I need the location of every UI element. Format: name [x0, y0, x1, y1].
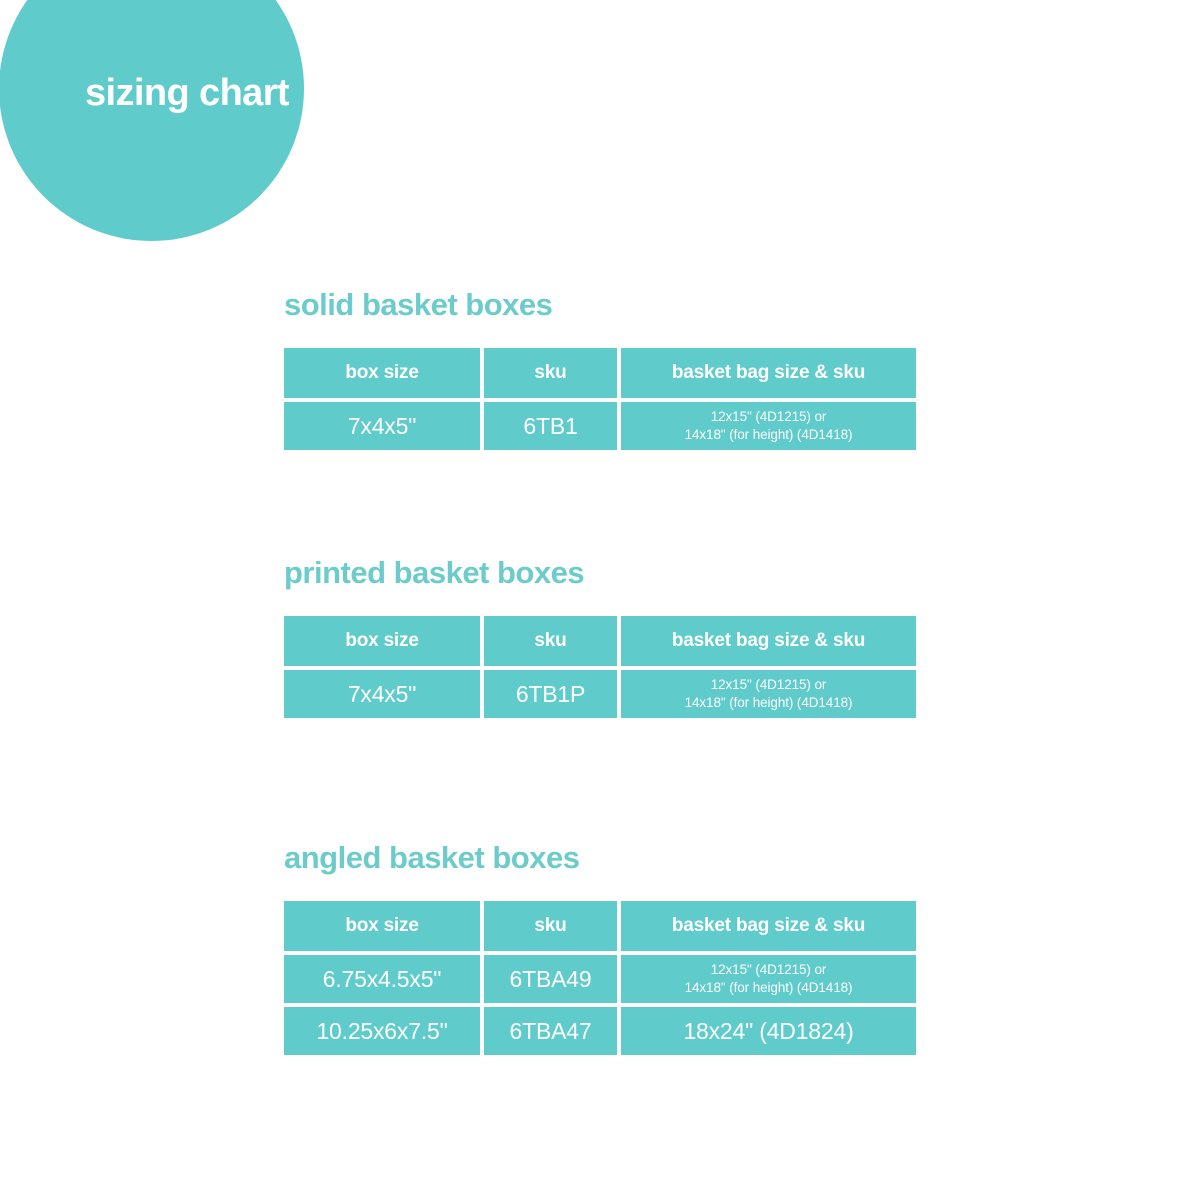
cell-text: basket bag size & sku	[621, 901, 916, 951]
table-row: 7x4x5" 6TB1P 12x15" (4D1215) or 14x18" (…	[284, 670, 916, 718]
badge-label: sizing chart	[85, 72, 289, 115]
column-header-box-size: box size	[284, 348, 480, 398]
cell-box-size: 6.75x4.5x5"	[284, 955, 480, 1003]
cell-basket-bag: 18x24" (4D1824)	[621, 1007, 916, 1055]
cell-text: 7x4x5"	[284, 402, 480, 450]
cell-text: box size	[284, 616, 480, 666]
table-header-row: box size sku basket bag size & sku	[284, 901, 916, 951]
section-angled-basket-boxes: angled basket boxes box size sku basket …	[284, 840, 920, 1059]
cell-text: 6TBA49	[484, 955, 617, 1003]
cell-text-line2: 14x18" (for height) (4D1418)	[685, 694, 853, 712]
cell-sku: 6TBA47	[484, 1007, 617, 1055]
section-title: angled basket boxes	[284, 840, 920, 876]
cell-text: 6TB1	[484, 402, 617, 450]
cell-sku: 6TBA49	[484, 955, 617, 1003]
cell-basket-bag: 12x15" (4D1215) or 14x18" (for height) (…	[621, 402, 916, 450]
sizing-chart-page: sizing chart solid basket boxes box size…	[0, 0, 1200, 1200]
cell-multiline: 12x15" (4D1215) or 14x18" (for height) (…	[621, 670, 916, 718]
cell-text: 18x24" (4D1824)	[621, 1007, 916, 1055]
sizing-table: box size sku basket bag size & sku 7x4x5…	[280, 612, 920, 722]
column-header-box-size: box size	[284, 616, 480, 666]
cell-text: sku	[484, 616, 617, 666]
column-header-basket-bag: basket bag size & sku	[621, 901, 916, 951]
cell-text-line1: 12x15" (4D1215) or	[685, 408, 853, 426]
cell-text: 10.25x6x7.5"	[284, 1007, 480, 1055]
column-header-sku: sku	[484, 616, 617, 666]
cell-text: basket bag size & sku	[621, 348, 916, 398]
cell-multiline: 12x15" (4D1215) or 14x18" (for height) (…	[621, 955, 916, 1003]
table-row: 10.25x6x7.5" 6TBA47 18x24" (4D1824)	[284, 1007, 916, 1055]
table-header-row: box size sku basket bag size & sku	[284, 616, 916, 666]
cell-text: sku	[484, 348, 617, 398]
cell-text: sku	[484, 901, 617, 951]
cell-text: 6TBA47	[484, 1007, 617, 1055]
column-header-sku: sku	[484, 901, 617, 951]
table-header-row: box size sku basket bag size & sku	[284, 348, 916, 398]
cell-box-size: 7x4x5"	[284, 670, 480, 718]
cell-box-size: 7x4x5"	[284, 402, 480, 450]
cell-text-line2: 14x18" (for height) (4D1418)	[685, 426, 853, 444]
cell-basket-bag: 12x15" (4D1215) or 14x18" (for height) (…	[621, 955, 916, 1003]
cell-text: basket bag size & sku	[621, 616, 916, 666]
cell-text: box size	[284, 901, 480, 951]
sizing-table: box size sku basket bag size & sku 7x4x5…	[280, 344, 920, 454]
cell-sku: 6TB1P	[484, 670, 617, 718]
column-header-box-size: box size	[284, 901, 480, 951]
cell-text: 6TB1P	[484, 670, 617, 718]
badge-circle	[0, 0, 304, 241]
section-title: printed basket boxes	[284, 555, 920, 591]
column-header-basket-bag: basket bag size & sku	[621, 348, 916, 398]
cell-text: 6.75x4.5x5"	[284, 955, 480, 1003]
table-row: 6.75x4.5x5" 6TBA49 12x15" (4D1215) or 14…	[284, 955, 916, 1003]
table-row: 7x4x5" 6TB1 12x15" (4D1215) or 14x18" (f…	[284, 402, 916, 450]
cell-text-line2: 14x18" (for height) (4D1418)	[685, 979, 853, 997]
column-header-sku: sku	[484, 348, 617, 398]
cell-sku: 6TB1	[484, 402, 617, 450]
cell-text: box size	[284, 348, 480, 398]
section-printed-basket-boxes: printed basket boxes box size sku basket…	[284, 555, 920, 722]
cell-text: 7x4x5"	[284, 670, 480, 718]
cell-text-line1: 12x15" (4D1215) or	[685, 961, 853, 979]
cell-box-size: 10.25x6x7.5"	[284, 1007, 480, 1055]
cell-basket-bag: 12x15" (4D1215) or 14x18" (for height) (…	[621, 670, 916, 718]
cell-multiline: 12x15" (4D1215) or 14x18" (for height) (…	[621, 402, 916, 450]
sizing-table: box size sku basket bag size & sku 6.75x…	[280, 897, 920, 1059]
column-header-basket-bag: basket bag size & sku	[621, 616, 916, 666]
cell-text-line1: 12x15" (4D1215) or	[685, 676, 853, 694]
section-title: solid basket boxes	[284, 287, 920, 323]
section-solid-basket-boxes: solid basket boxes box size sku basket b…	[284, 287, 920, 454]
